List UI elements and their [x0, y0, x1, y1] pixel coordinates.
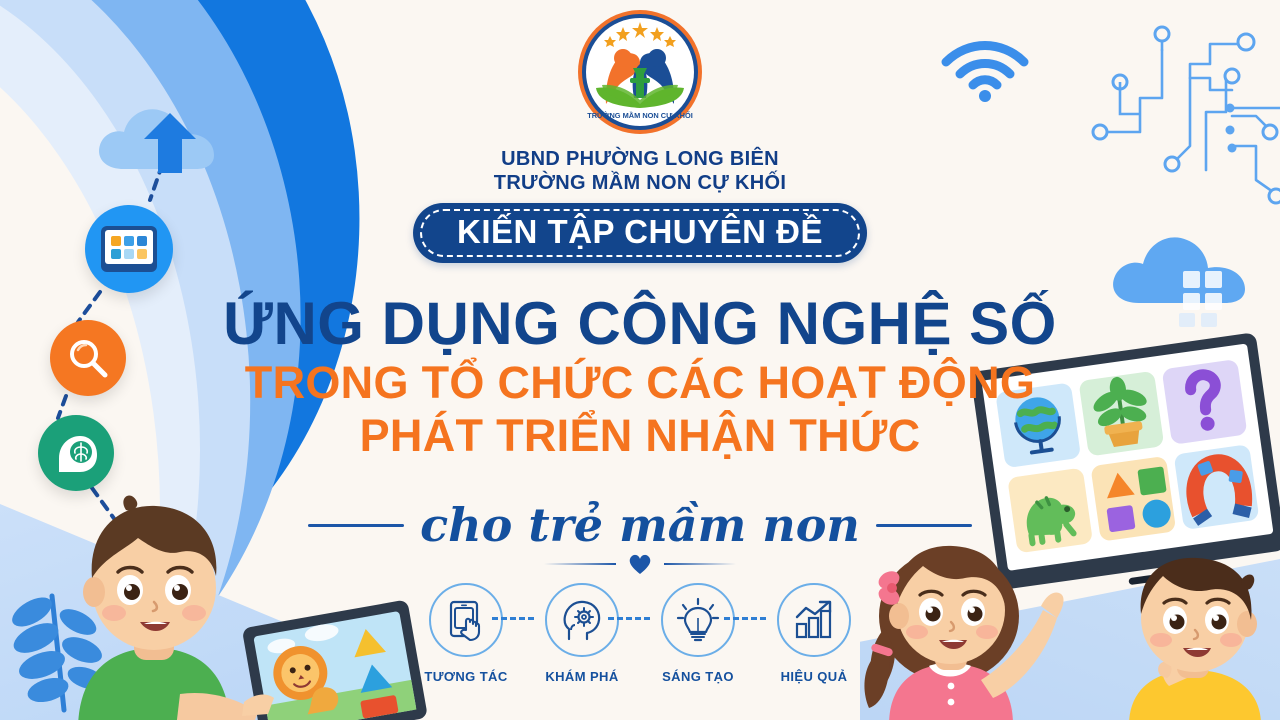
org-line-2: TRƯỜNG MẦM NON CỰ KHỐI — [0, 171, 1280, 195]
logo-ribbon-text: TRƯỜNG MẦM NON CỰ KHỐI — [587, 110, 693, 120]
school-logo: TRƯỜNG MẦM NON CỰ KHỐI — [576, 8, 704, 136]
poster-canvas: TRƯỜNG MẦM NON CỰ KHỐI UBND PHƯỜNG LONG … — [0, 0, 1280, 720]
subtitle-line-2: PHÁT TRIỂN NHẬN THỨC — [0, 409, 1280, 462]
subtitle-line-1: TRONG TỔ CHỨC CÁC HOẠT ĐỘNG — [0, 356, 1280, 409]
heart-rule-right — [664, 563, 736, 565]
growth-chart-icon — [777, 583, 851, 657]
head-gear-icon — [545, 583, 619, 657]
tablet-apps-icon — [85, 205, 173, 293]
script-tagline: cho trẻ mầm non — [420, 498, 860, 552]
rule-right — [876, 524, 972, 527]
boy-with-tablet — [30, 480, 430, 720]
topic-badge: KIẾN TẬP CHUYÊN ĐỀ — [413, 203, 867, 263]
tablet-touch-icon — [429, 583, 503, 657]
feature-row: TƯƠNG TÁC KHÁM PHÁ — [420, 583, 860, 703]
heart-rule-left — [544, 563, 616, 565]
feature-connector — [724, 617, 766, 620]
feature-label: SÁNG TẠO — [652, 669, 744, 684]
lightbulb-icon — [661, 583, 735, 657]
feature-label: TƯƠNG TÁC — [420, 669, 512, 684]
main-title: ỨNG DỤNG CÔNG NGHỆ SỐ — [0, 292, 1280, 356]
organization-names: UBND PHƯỜNG LONG BIÊN TRƯỜNG MẦM NON CỰ … — [0, 147, 1280, 195]
feature-connector — [492, 617, 534, 620]
title-block: ỨNG DỤNG CÔNG NGHỆ SỐ TRONG TỔ CHỨC CÁC … — [0, 292, 1280, 462]
feature-sang-tao[interactable]: SÁNG TẠO — [652, 583, 744, 684]
feature-tuong-tac[interactable]: TƯƠNG TÁC — [420, 583, 512, 684]
feature-label: KHÁM PHÁ — [536, 669, 628, 684]
org-line-1: UBND PHƯỜNG LONG BIÊN — [0, 147, 1280, 171]
feature-connector — [608, 617, 650, 620]
poster-header: TRƯỜNG MẦM NON CỰ KHỐI UBND PHƯỜNG LONG … — [0, 8, 1280, 195]
heart-icon — [628, 553, 652, 575]
boy-thinking — [1115, 560, 1280, 720]
feature-kham-pha[interactable]: KHÁM PHÁ — [536, 583, 628, 684]
topic-badge-label: KIẾN TẬP CHUYÊN ĐỀ — [457, 214, 823, 250]
girl-pointing — [845, 540, 1105, 720]
